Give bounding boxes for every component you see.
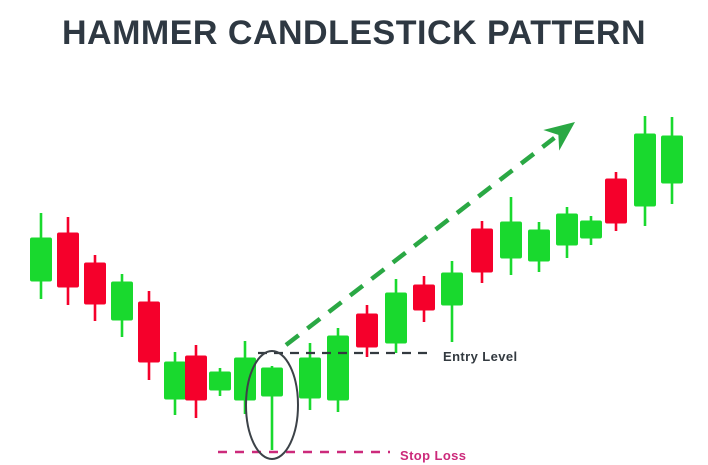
candle-body [386, 293, 407, 343]
candle [58, 217, 79, 305]
candle-body [357, 314, 378, 347]
candlestick-chart-canvas [0, 0, 708, 465]
candle-body [501, 222, 522, 258]
candle [557, 207, 578, 258]
candle [31, 213, 52, 299]
candle [139, 291, 160, 380]
candle [357, 305, 378, 357]
candle-body [529, 230, 550, 261]
candle [606, 172, 627, 231]
candle [581, 216, 602, 245]
candle-body [300, 358, 321, 398]
candle-body [635, 134, 656, 206]
candle-body [262, 368, 283, 396]
candle [529, 222, 550, 272]
candle-body [414, 285, 435, 310]
candle-body [58, 233, 79, 287]
candle-body [328, 336, 349, 400]
candle-body [557, 214, 578, 245]
candle [165, 352, 186, 415]
candle [501, 197, 522, 275]
candle-body [112, 282, 133, 320]
candle-body [662, 136, 683, 183]
candles-group [31, 116, 683, 450]
candle [328, 328, 349, 412]
candle-body [235, 358, 256, 400]
candle [186, 345, 207, 418]
candle [472, 221, 493, 283]
candle-body [442, 273, 463, 305]
uptrend-arrow-head [543, 122, 575, 151]
candle-body [581, 221, 602, 238]
candle [662, 117, 683, 204]
candle [210, 368, 231, 396]
candle-body [139, 302, 160, 362]
candle [414, 276, 435, 322]
candle-body [606, 179, 627, 223]
hammer-candle [262, 366, 283, 450]
candle [235, 341, 256, 414]
candle-body [85, 263, 106, 304]
candle [112, 274, 133, 337]
candle-body [31, 238, 52, 281]
candle [442, 261, 463, 342]
candle [386, 279, 407, 353]
candle-body [472, 229, 493, 272]
stop-loss-label: Stop Loss [400, 448, 466, 463]
candlestick-chart-page: HAMMER CANDLESTICK PATTERN Entry Level S… [0, 0, 708, 465]
candle-body [165, 362, 186, 399]
entry-level-label: Entry Level [443, 349, 518, 364]
candle [85, 255, 106, 321]
candle [635, 116, 656, 226]
candle-body [210, 372, 231, 390]
candle-body [186, 356, 207, 400]
